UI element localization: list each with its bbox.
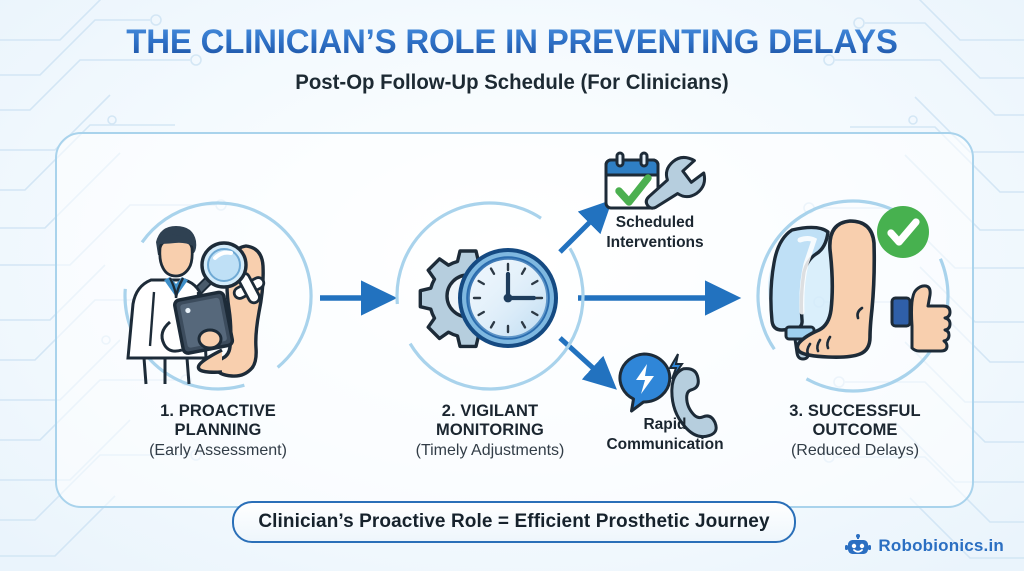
brand-logo-text: Robobionics.in [878, 536, 1004, 556]
step-3-subtitle: (Reduced Delays) [735, 442, 975, 460]
step-1-label: 1. PROACTIVE PLANNING (Early Assessment) [93, 402, 343, 460]
clinician-with-tablet-magnifier-leg-icon [118, 196, 318, 396]
branch-scheduled-interventions: Scheduled Interventions [570, 148, 740, 252]
step-2: 2. VIGILANT MONITORING (Timely Adjustmen… [385, 196, 595, 460]
step-1-title-line2: PLANNING [93, 421, 343, 440]
gear-and-clock-icon [390, 196, 590, 396]
step-1: 1. PROACTIVE PLANNING (Early Assessment) [93, 196, 343, 460]
step-1-icon-circle [118, 196, 318, 396]
branch-scheduled-label-line1: Scheduled [570, 214, 740, 232]
calendar-check-wrench-icon [600, 148, 710, 212]
branch-rapid-label-line2: Communication [580, 436, 750, 454]
branch-rapid-communication: Rapid Communication [580, 352, 750, 454]
prosthetic-leg-checkmark-thumbsup-icon [750, 196, 960, 396]
step-1-title-line1: 1. PROACTIVE [93, 402, 343, 421]
branch-scheduled-label-line2: Interventions [570, 234, 740, 252]
step-2-title-line1: 2. VIGILANT [385, 402, 595, 421]
summary-banner: Clinician’s Proactive Role = Efficient P… [232, 501, 796, 543]
branch-rapid-label-line1: Rapid [580, 416, 750, 434]
step-3-icon-circle [750, 196, 960, 396]
step-1-subtitle: (Early Assessment) [93, 442, 343, 460]
speech-bubble-bolt-phone-icon [610, 352, 720, 414]
robot-head-icon [845, 534, 871, 558]
step-2-label: 2. VIGILANT MONITORING (Timely Adjustmen… [385, 402, 595, 460]
step-3: 3. SUCCESSFUL OUTCOME (Reduced Delays) [735, 196, 975, 460]
step-2-icon-circle [390, 196, 590, 396]
summary-banner-text: Clinician’s Proactive Role = Efficient P… [258, 511, 769, 533]
step-2-title-line2: MONITORING [385, 421, 595, 440]
step-3-label: 3. SUCCESSFUL OUTCOME (Reduced Delays) [735, 402, 975, 460]
step-3-title-line2: OUTCOME [735, 421, 975, 440]
step-2-subtitle: (Timely Adjustments) [385, 442, 595, 460]
step-3-title-line1: 3. SUCCESSFUL [735, 402, 975, 421]
brand-logo[interactable]: Robobionics.in [845, 534, 1004, 558]
infographic-root: THE CLINICIAN’S ROLE IN PREVENTING DELAY… [0, 0, 1024, 571]
